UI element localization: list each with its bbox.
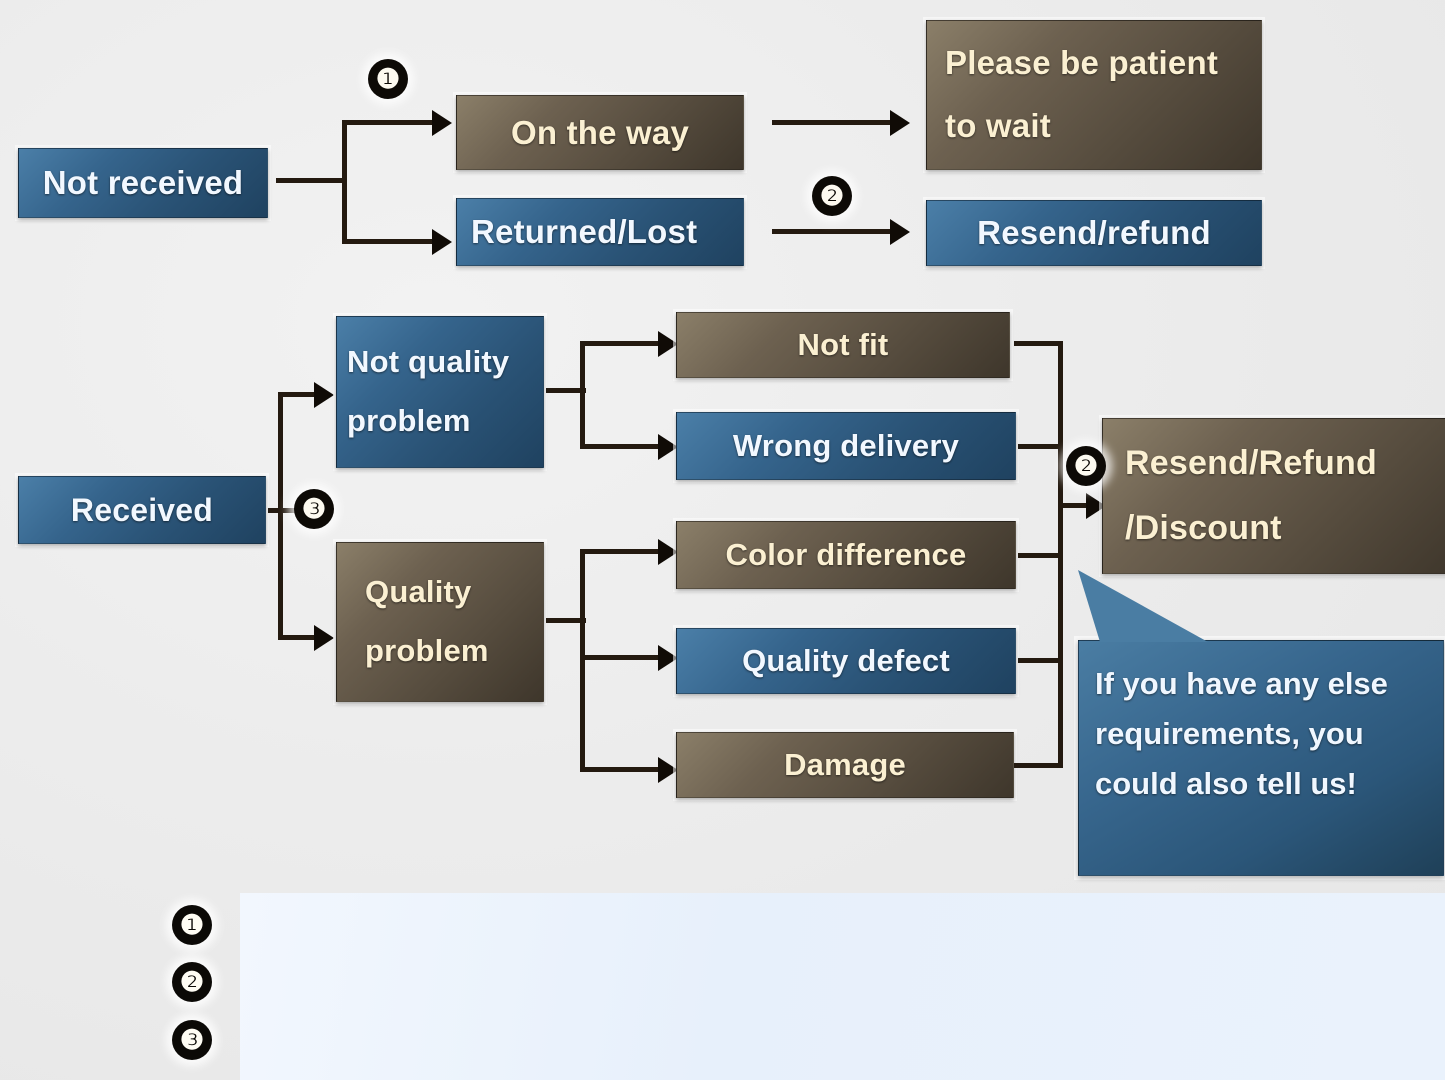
connector-q-to-color-difference (580, 549, 662, 554)
marker-badge-1-branch: ❶ (368, 59, 408, 99)
node-on-the-way[interactable]: On the way (456, 95, 744, 170)
node-label: Quality defect (742, 643, 950, 679)
connector-received-spine (278, 392, 283, 640)
node-label: Not received (43, 164, 243, 202)
connector-on-the-way-to-wait (772, 120, 894, 125)
marker-glyph: ❷ (820, 181, 844, 212)
arrowhead-damage (658, 757, 678, 783)
connector-to-on-the-way (342, 120, 434, 125)
node-quality-problem[interactable]: Quality problem (336, 542, 544, 702)
flowchart-canvas: Not received ❶ On the way Returned/Lost … (0, 0, 1445, 1080)
node-label: Wrong delivery (733, 428, 959, 464)
marker-glyph: ❶ (180, 910, 204, 941)
arrowhead-color-difference (658, 539, 678, 565)
callout-tail-icon (1078, 570, 1278, 660)
node-label: On the way (511, 114, 689, 152)
marker-glyph: ❷ (180, 967, 204, 998)
arrowhead-wrong-delivery (658, 434, 678, 460)
arrowhead-quality (314, 625, 334, 651)
node-label-line2: problem (347, 392, 471, 451)
arrowhead-returned-lost (432, 229, 452, 255)
node-not-quality-problem[interactable]: Not quality problem (336, 316, 544, 468)
node-received[interactable]: Received (18, 476, 266, 544)
node-label: Received (71, 492, 213, 529)
connector-q-to-quality-defect (580, 655, 662, 660)
connector-nq-to-wrong-delivery (580, 444, 662, 449)
legend-marker-1: ❶ (172, 905, 212, 945)
arrowhead-quality-defect (658, 645, 678, 671)
connector-merge-stub-not-fit (1014, 341, 1062, 346)
node-not-fit[interactable]: Not fit (676, 312, 1010, 378)
connector-q-spine (580, 549, 585, 772)
marker-badge-3-branch: ❸ (294, 489, 334, 529)
node-label: Returned/Lost (471, 213, 697, 251)
marker-glyph: ❸ (180, 1025, 204, 1056)
connector-merge-stub-quality-defect (1018, 658, 1062, 663)
legend-panel (240, 893, 1445, 1080)
marker-glyph: ❶ (376, 64, 400, 95)
arrowhead-on-the-way (432, 110, 452, 136)
arrowhead-please-wait (890, 110, 910, 136)
arrowhead-not-quality (314, 382, 334, 408)
node-label: Not fit (798, 327, 889, 363)
legend-marker-3: ❸ (172, 1020, 212, 1060)
node-label-line2: to wait (945, 95, 1051, 158)
connector-merge-bus (1058, 341, 1063, 768)
connector-not-received-trunk (276, 178, 344, 183)
marker-glyph: ❸ (302, 494, 326, 525)
connector-nq-to-not-fit (580, 341, 662, 346)
marker-badge-2-resend: ❷ (812, 176, 852, 216)
node-damage[interactable]: Damage (676, 732, 1014, 798)
callout-line-2: requirements, you (1095, 709, 1429, 759)
node-quality-defect[interactable]: Quality defect (676, 628, 1016, 694)
legend-marker-2: ❷ (172, 962, 212, 1002)
connector-merge-stub-color-difference (1018, 553, 1062, 558)
connector-not-received-spine (342, 120, 347, 244)
node-color-difference[interactable]: Color difference (676, 521, 1016, 589)
callout-line-3: could also tell us! (1095, 759, 1429, 809)
connector-returned-to-resend (772, 229, 894, 234)
callout-box: If you have any else requirements, you c… (1078, 640, 1444, 876)
connector-nq-spine (580, 341, 585, 449)
arrowhead-resend-refund (890, 219, 910, 245)
node-label-line2: /Discount (1125, 496, 1282, 561)
marker-glyph: ❷ (1074, 451, 1098, 482)
marker-badge-2-outcome: ❷ (1066, 446, 1106, 486)
node-not-received[interactable]: Not received (18, 148, 268, 218)
node-returned-lost[interactable]: Returned/Lost (456, 198, 744, 266)
node-label: Color difference (726, 537, 967, 573)
node-label-line1: Resend/Refund (1125, 431, 1377, 496)
node-please-be-patient-to-wait[interactable]: Please be patient to wait (926, 20, 1262, 170)
node-resend-refund[interactable]: Resend/refund (926, 200, 1262, 266)
node-label-line2: problem (365, 622, 489, 681)
connector-merge-stub-wrong-delivery (1018, 444, 1062, 449)
node-label-line1: Not quality (347, 333, 509, 392)
arrowhead-not-fit (658, 331, 678, 357)
node-wrong-delivery[interactable]: Wrong delivery (676, 412, 1016, 480)
node-label: Resend/refund (977, 214, 1211, 252)
connector-q-to-damage (580, 767, 662, 772)
node-label: Damage (784, 747, 906, 783)
callout-line-1: If you have any else (1095, 659, 1429, 709)
connector-merge-stub-damage (1014, 763, 1062, 768)
node-label-line1: Please be patient (945, 32, 1218, 95)
connector-to-returned-lost (342, 239, 434, 244)
node-resend-refund-discount[interactable]: Resend/Refund /Discount (1102, 418, 1445, 574)
node-label-line1: Quality (365, 563, 471, 622)
